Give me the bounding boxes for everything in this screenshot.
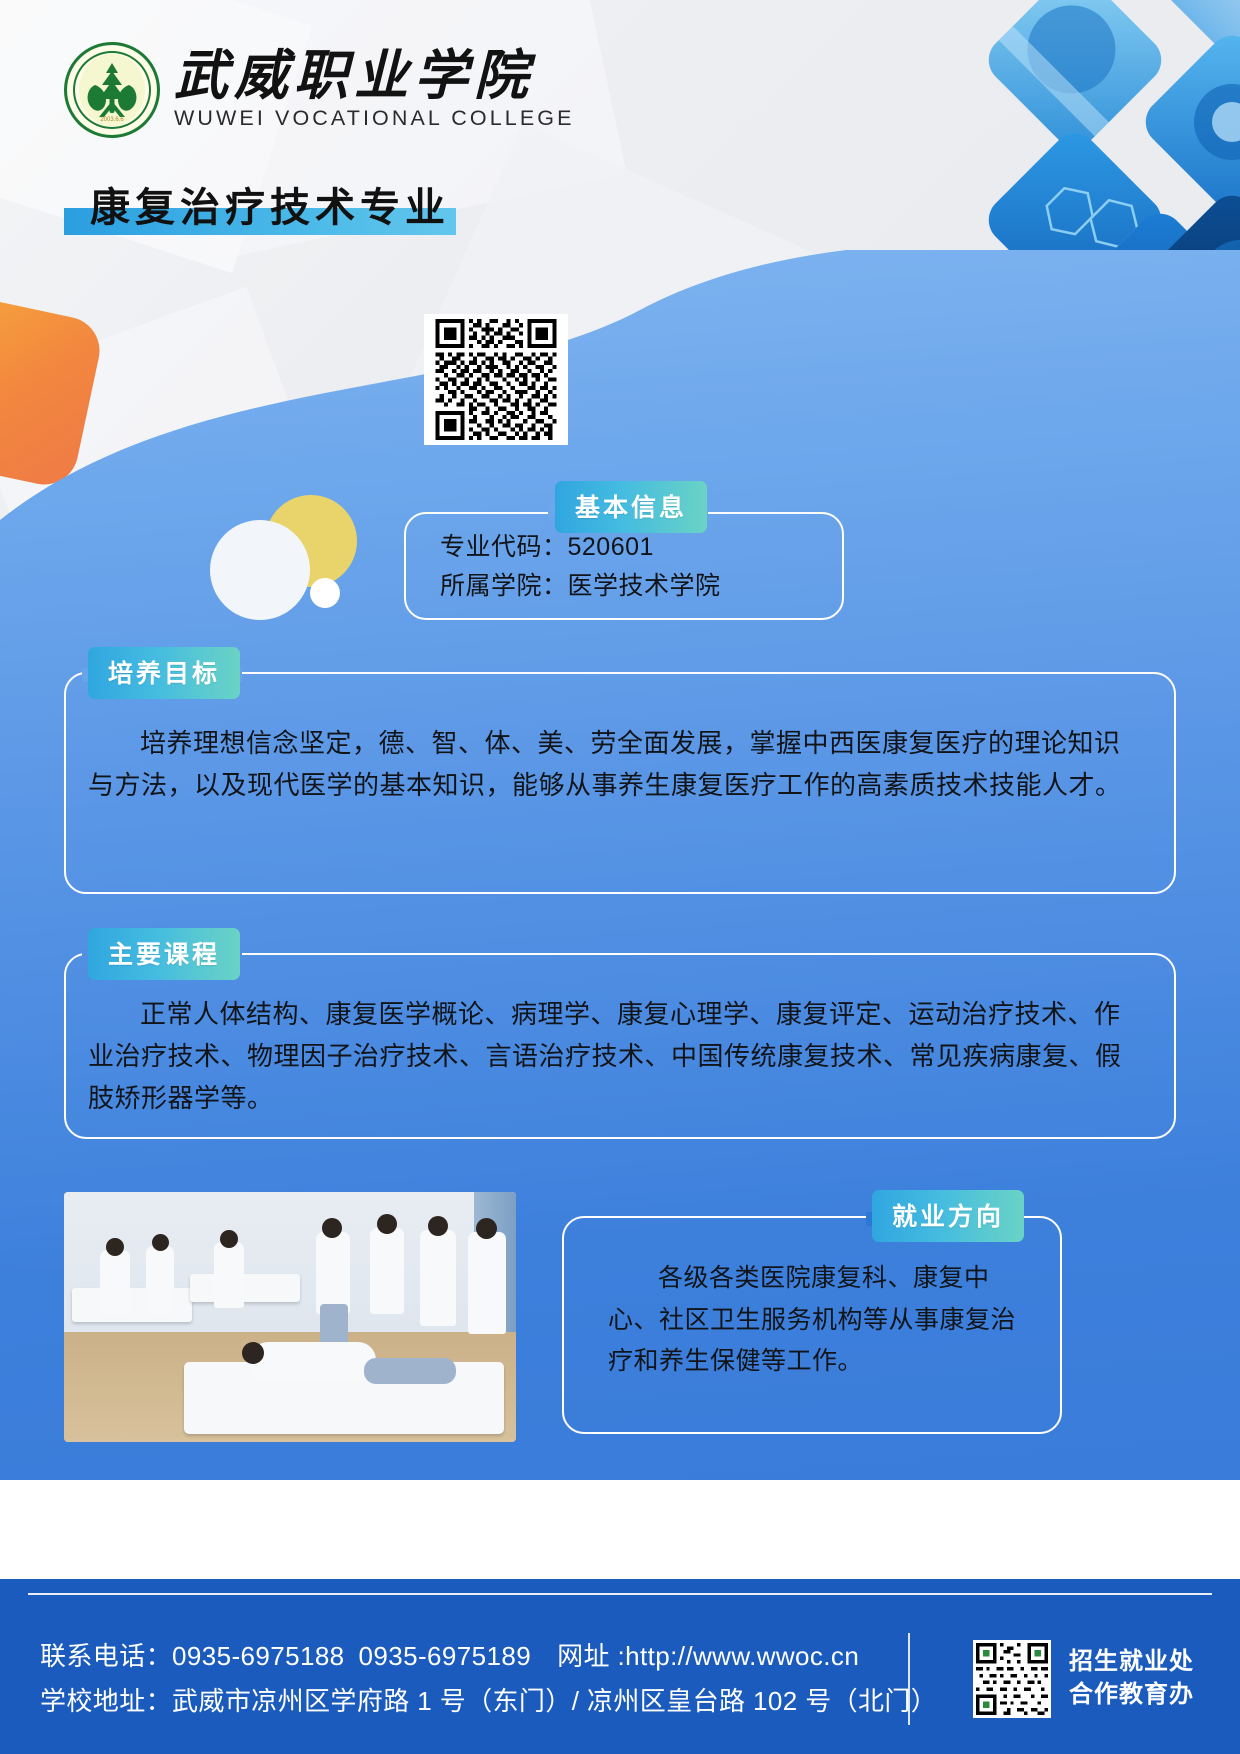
qr-code[interactable] [424, 314, 568, 445]
section-badge-training-goal: 培养目标 [88, 647, 240, 699]
logo-wordmark: 武威职业学院 WUWEI VOCATIONAL COLLEGE [174, 49, 575, 131]
photo-person-head [428, 1216, 448, 1236]
photo-bed [190, 1274, 300, 1302]
main-courses-card: 正常人体结构、康复医学概论、病理学、康复心理学、康复评定、运动治疗技术、作业治疗… [64, 953, 1176, 1139]
photo-person-head [220, 1230, 238, 1248]
footer-divider [28, 1593, 1212, 1595]
classroom-photo [64, 1192, 516, 1442]
logo-emblem-icon: 2003.6.6 [64, 42, 160, 138]
footer-bar: 联系电话：0935-69751880935-6975189网址 :http://… [0, 1579, 1240, 1754]
footer-contact-block: 联系电话：0935-69751880935-6975189网址 :http://… [0, 1634, 937, 1723]
photo-bed [72, 1288, 192, 1322]
main-courses-text: 正常人体结构、康复医学概论、病理学、康复心理学、康复评定、运动治疗技术、作业治疗… [88, 999, 1122, 1113]
employment-body: 各级各类医院康复科、康复中心、社区卫生服务机构等从事康复治疗和养生保健等工作。 [564, 1218, 1060, 1383]
photo-person [370, 1228, 404, 1314]
employment-text: 各级各类医院康复科、康复中心、社区卫生服务机构等从事康复治疗和养生保健等工作。 [608, 1264, 1016, 1375]
training-goal-text: 培养理想信念坚定，德、智、体、美、劳全面发展，掌握中西医康复医疗的理论知识与方法… [88, 728, 1122, 800]
phone-number-2: 0935-6975189 [359, 1641, 532, 1671]
qr-code-icon [429, 319, 563, 440]
photo-person-head [476, 1218, 497, 1239]
photo-person [214, 1242, 244, 1308]
page-title: 康复治疗技术专业 [64, 175, 450, 233]
footer-qr-code[interactable] [973, 1640, 1051, 1718]
training-goal-card: 培养理想信念坚定，德、智、体、美、劳全面发展，掌握中西医康复医疗的理论知识与方法… [64, 672, 1176, 894]
photo-person-head [377, 1214, 397, 1234]
poster-page: 25 17 [0, 0, 1240, 1754]
photo-patient-head [242, 1342, 264, 1364]
major-title-block: 康复治疗技术专业 [64, 175, 450, 233]
section-badge-employment: 就业方向 [872, 1190, 1024, 1242]
address-label: 学校地址： [40, 1686, 172, 1716]
website-url[interactable]: http://www.wwoc.cn [625, 1641, 859, 1671]
logo-english-name: WUWEI VOCATIONAL COLLEGE [174, 106, 575, 131]
footer-dept-block: 招生就业处 合作教育办 [973, 1640, 1240, 1718]
footer-phone-row: 联系电话：0935-69751880935-6975189网址 :http://… [40, 1634, 937, 1679]
photo-person-instructor [316, 1232, 350, 1314]
section-badge-basic-info: 基本信息 [555, 481, 707, 533]
footer-department-name: 招生就业处 合作教育办 [1069, 1646, 1194, 1711]
phone-number-1: 0935-6975188 [172, 1641, 345, 1671]
photo-jeans [364, 1358, 456, 1384]
photo-person-head [322, 1218, 342, 1238]
photo-person [100, 1250, 130, 1314]
major-code-line: 专业代码：520601 [440, 528, 842, 567]
section-badge-main-courses: 主要课程 [88, 928, 240, 980]
dept-line-1: 招生就业处 [1069, 1646, 1194, 1678]
logo-chinese-name: 武威职业学院 [174, 49, 575, 104]
photo-person [146, 1246, 174, 1314]
footer-content: 联系电话：0935-69751880935-6975189网址 :http://… [0, 1603, 1240, 1754]
department-line: 所属学院：医学技术学院 [440, 567, 842, 606]
photo-person [420, 1230, 456, 1326]
footer-address-row: 学校地址：武威市凉州区学府路 1 号（东门）/ 凉州区皇台路 102 号（北门） [40, 1679, 937, 1724]
address-value: 武威市凉州区学府路 1 号（东门）/ 凉州区皇台路 102 号（北门） [172, 1686, 937, 1716]
dept-line-2: 合作教育办 [1069, 1679, 1194, 1711]
college-logo: 2003.6.6 武威职业学院 WUWEI VOCATIONAL COLLEGE [64, 42, 575, 138]
decor-circle-small [310, 578, 340, 608]
svg-text:2003.6.6: 2003.6.6 [100, 117, 124, 123]
employment-card: 各级各类医院康复科、康复中心、社区卫生服务机构等从事康复治疗和养生保健等工作。 [562, 1216, 1062, 1434]
website-label: 网址 : [557, 1641, 625, 1671]
photo-person [468, 1232, 506, 1334]
footer-qr-icon [976, 1643, 1048, 1715]
photo-person-head [152, 1234, 169, 1251]
phone-label: 联系电话： [40, 1641, 172, 1671]
photo-patient [250, 1342, 376, 1382]
footer-vertical-separator [908, 1633, 910, 1725]
decor-circle-white [210, 520, 310, 620]
photo-person-head [106, 1238, 124, 1256]
